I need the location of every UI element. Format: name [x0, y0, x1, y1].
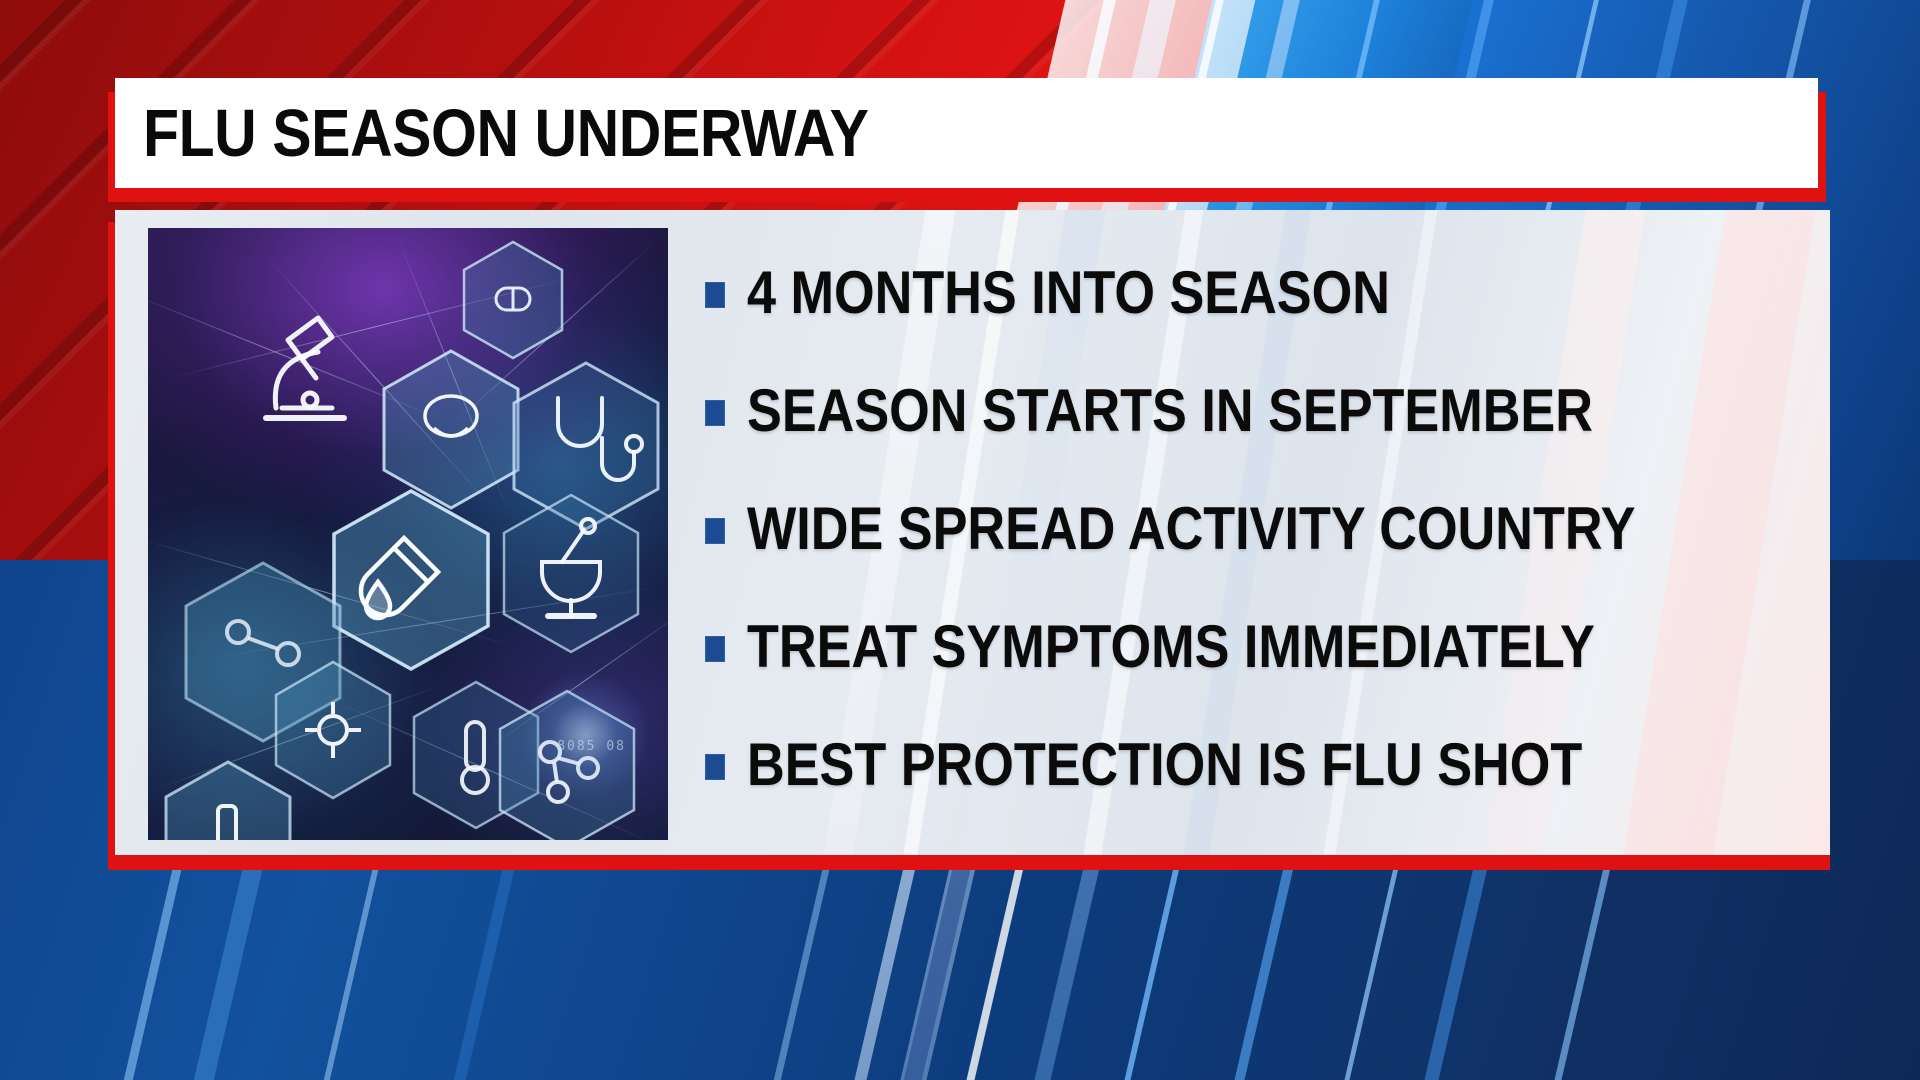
bullet-text: TREAT SYMPTOMS IMMEDIATELY [747, 617, 1595, 677]
square-bullet-icon [705, 636, 725, 662]
headline-bar: FLU SEASON UNDERWAY [115, 78, 1818, 188]
bullet-text: SEASON STARTS IN SEPTEMBER [747, 381, 1593, 441]
square-bullet-icon [705, 754, 725, 780]
content-panel: 8085 08 4 MONTHS INTO SEASON SEASON STAR… [115, 210, 1830, 855]
list-item: 4 MONTHS INTO SEASON [705, 234, 1815, 352]
bullet-text: 4 MONTHS INTO SEASON [747, 263, 1390, 323]
list-item: WIDE SPREAD ACTIVITY COUNTRY [705, 470, 1815, 588]
hexagon-cell [496, 490, 646, 658]
hexagon-cell [326, 486, 496, 676]
hexagon-cell [158, 758, 298, 840]
hexagon-cell [458, 238, 568, 362]
bullet-text: WIDE SPREAD ACTIVITY COUNTRY [747, 499, 1635, 559]
bullet-list: 4 MONTHS INTO SEASON SEASON STARTS IN SE… [705, 210, 1815, 855]
story-thumbnail-image: 8085 08 [148, 228, 668, 840]
square-bullet-icon [705, 282, 725, 308]
square-bullet-icon [705, 400, 725, 426]
bullet-text: BEST PROTECTION IS FLU SHOT [747, 735, 1582, 795]
list-item: TREAT SYMPTOMS IMMEDIATELY [705, 588, 1815, 706]
page-title: FLU SEASON UNDERWAY [143, 100, 868, 167]
lens-flare [520, 670, 650, 800]
square-bullet-icon [705, 518, 725, 544]
microscope-icon [236, 296, 386, 446]
list-item: BEST PROTECTION IS FLU SHOT [705, 706, 1815, 824]
thumbnail-overlay-code: 8085 08 [557, 739, 626, 754]
list-item: SEASON STARTS IN SEPTEMBER [705, 352, 1815, 470]
